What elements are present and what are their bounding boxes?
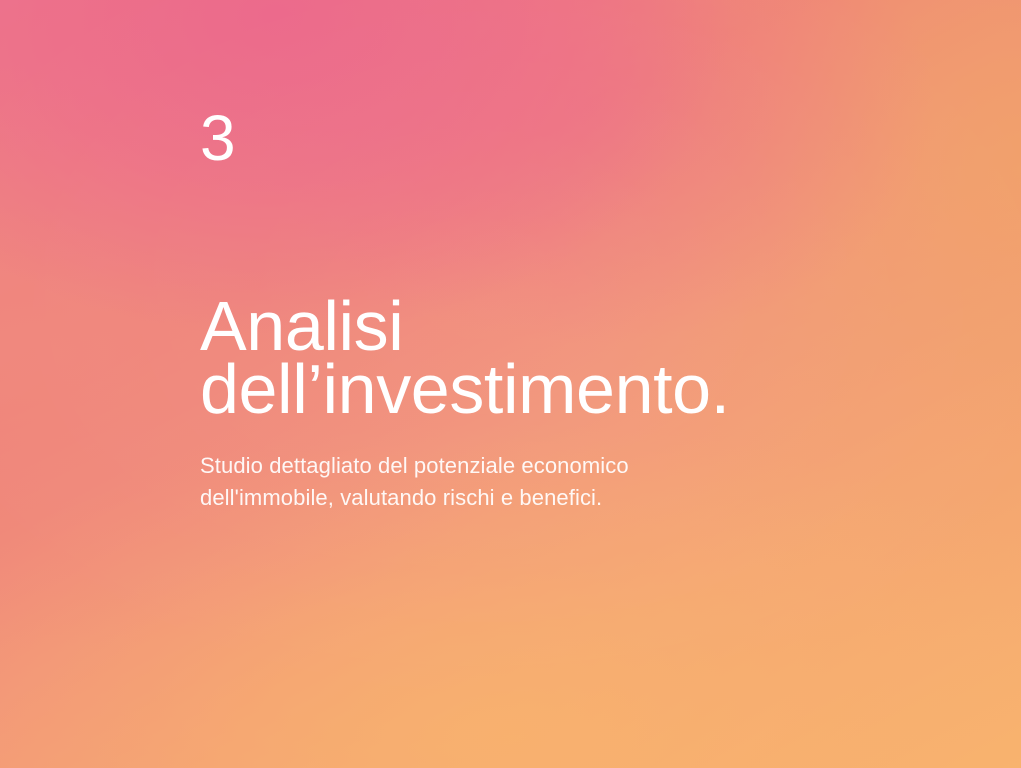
title-line-1: Analisi [200,295,730,358]
subtitle-line-1: Studio dettagliato del potenziale econom… [200,450,629,482]
subtitle-line-2: dell'immobile, valutando rischi e benefi… [200,482,629,514]
section-number: 3 [200,106,236,170]
presentation-slide: 3 Analisi dell’investimento. Studio dett… [0,0,1021,768]
slide-content: 3 Analisi dell’investimento. Studio dett… [200,0,960,768]
title-line-2: dell’investimento. [200,358,730,421]
page-title: Analisi dell’investimento. [200,295,730,421]
slide-subtitle: Studio dettagliato del potenziale econom… [200,450,629,514]
